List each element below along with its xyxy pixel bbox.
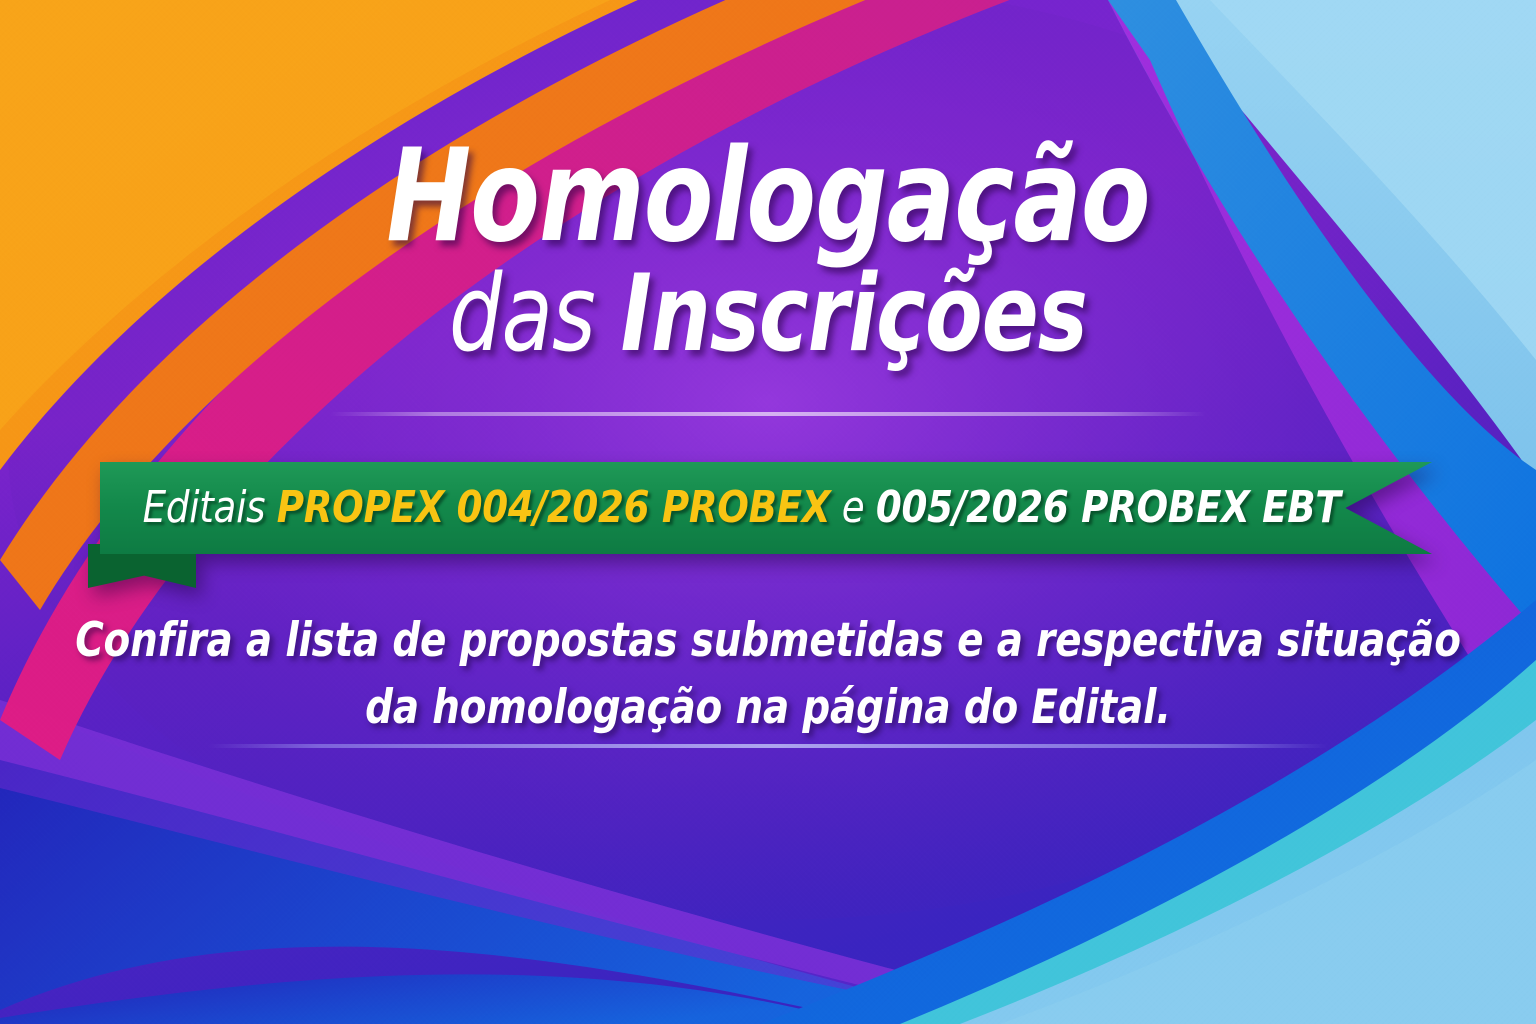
title-line-secondary: das Inscrições	[92, 264, 1444, 365]
title-secondary-heavy: Inscrições	[621, 252, 1087, 375]
ribbon-body: Editais PROPEX 004/2026 PROBEX e 005/202…	[100, 462, 1432, 554]
divider-above-ribbon	[330, 412, 1206, 416]
divider-below-subcopy	[208, 744, 1328, 748]
title-secondary-light: das	[449, 252, 621, 375]
title-line-primary: Homologação	[92, 138, 1444, 256]
subcopy-line-1: Confira a lista de propostas submetidas …	[61, 608, 1474, 675]
ribbon-text: Editais PROPEX 004/2026 PROBEX e 005/202…	[140, 486, 1392, 530]
banner-title: Homologação das Inscrições	[0, 138, 1536, 364]
ribbon-edital-one: PROPEX 004/2026 PROBEX	[277, 482, 830, 533]
ribbon-conjunction: e	[830, 482, 876, 533]
ribbon-edital-two: 005/2026 PROBEX EBT	[876, 482, 1341, 533]
banner-subcopy: Confira a lista de propostas submetidas …	[0, 608, 1536, 741]
edital-ribbon: Editais PROPEX 004/2026 PROBEX e 005/202…	[88, 462, 1432, 566]
promotional-banner: Homologação das Inscrições Editais PROPE…	[0, 0, 1536, 1024]
ribbon-label-prefix: Editais	[143, 482, 277, 533]
subcopy-line-2: da homologação na página do Edital.	[61, 675, 1474, 742]
